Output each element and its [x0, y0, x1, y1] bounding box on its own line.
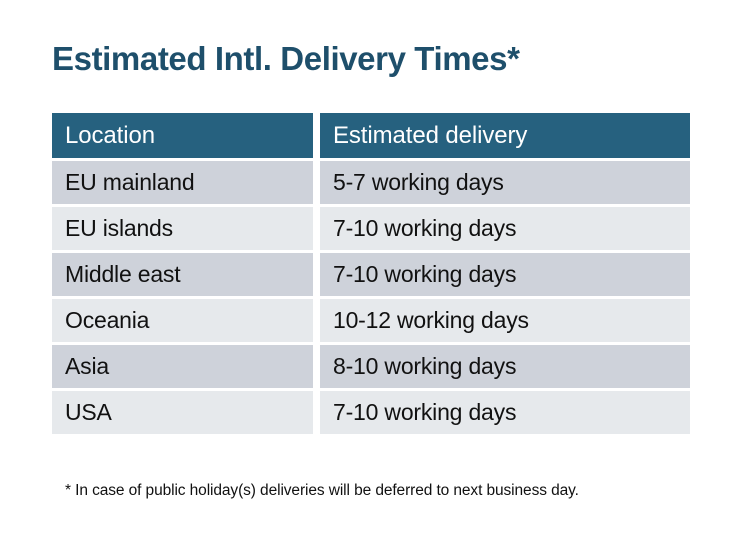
- table-row: Middle east 7-10 working days: [52, 253, 690, 296]
- cell-estimated-delivery: 10-12 working days: [320, 299, 690, 342]
- table-row: EU islands 7-10 working days: [52, 207, 690, 250]
- cell-location: Oceania: [52, 299, 313, 342]
- cell-estimated-delivery: 7-10 working days: [320, 207, 690, 250]
- table-body: EU mainland 5-7 working days EU islands …: [52, 161, 690, 434]
- footnote-text: * In case of public holiday(s) deliverie…: [65, 481, 579, 501]
- column-header-location: Location: [52, 113, 313, 158]
- cell-location: EU islands: [52, 207, 313, 250]
- cell-estimated-delivery: 7-10 working days: [320, 253, 690, 296]
- cell-location: Middle east: [52, 253, 313, 296]
- page-title: Estimated Intl. Delivery Times*: [52, 38, 520, 80]
- table-row: Oceania 10-12 working days: [52, 299, 690, 342]
- table-header: Location Estimated delivery: [52, 113, 690, 158]
- cell-location: Asia: [52, 345, 313, 388]
- cell-estimated-delivery: 7-10 working days: [320, 391, 690, 434]
- cell-estimated-delivery: 8-10 working days: [320, 345, 690, 388]
- table-row: Asia 8-10 working days: [52, 345, 690, 388]
- table-row: EU mainland 5-7 working days: [52, 161, 690, 204]
- table-header-row: Location Estimated delivery: [52, 113, 690, 158]
- cell-location: EU mainland: [52, 161, 313, 204]
- delivery-times-card: Estimated Intl. Delivery Times* Location…: [0, 0, 745, 536]
- estimated-delivery-table: Location Estimated delivery EU mainland …: [45, 110, 697, 437]
- cell-estimated-delivery: 5-7 working days: [320, 161, 690, 204]
- column-header-estimated-delivery: Estimated delivery: [320, 113, 690, 158]
- cell-location: USA: [52, 391, 313, 434]
- table-row: USA 7-10 working days: [52, 391, 690, 434]
